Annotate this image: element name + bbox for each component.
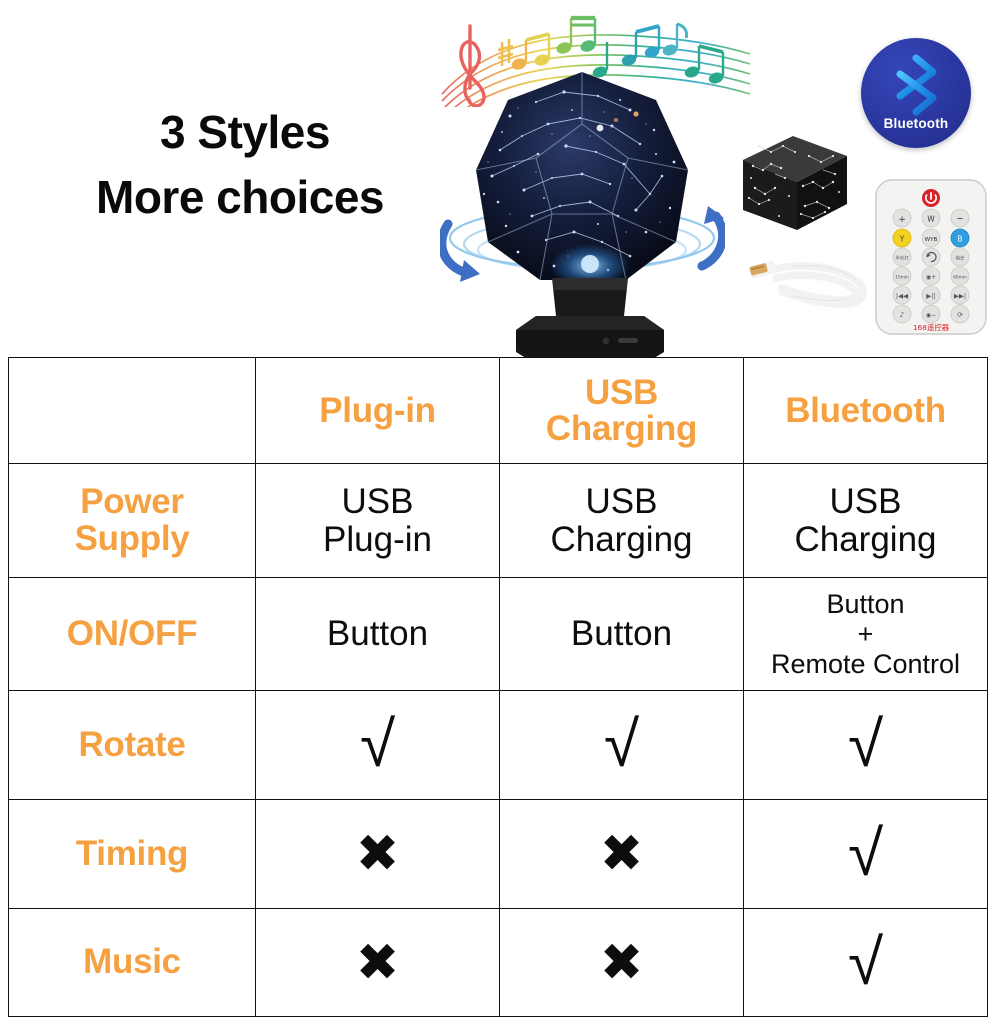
cell-line: Button <box>748 589 983 619</box>
check-icon: √ <box>260 713 495 777</box>
table-row-rotate: Rotate √ √ √ <box>9 691 988 800</box>
cell-line: USB <box>260 483 495 520</box>
remote-model-label: 168遥控器 <box>913 323 950 332</box>
column-header-line: Bluetooth <box>748 393 983 429</box>
svg-text:B: B <box>957 235 962 244</box>
row-label-timing: Timing <box>9 800 256 909</box>
check-icon: √ <box>748 822 983 886</box>
svg-text:▶▶|: ▶▶| <box>954 292 966 300</box>
row-label-rotate: Rotate <box>9 691 256 800</box>
cell-rotate-bluetooth: √ <box>744 691 988 800</box>
table-corner-cell <box>9 358 256 464</box>
cell-line: + <box>748 619 983 649</box>
svg-text:Y: Y <box>899 235 905 244</box>
column-header-plug-in: Plug-in <box>256 358 500 464</box>
row-label-line: ON/OFF <box>13 616 251 652</box>
svg-text:WYB: WYB <box>925 237 938 243</box>
check-icon: √ <box>748 713 983 777</box>
cell-line: Remote Control <box>748 649 983 679</box>
hero-banner: 3 Styles More choices <box>0 0 1000 357</box>
column-header-line: Charging <box>504 411 739 447</box>
cell-timing-bluetooth: √ <box>744 800 988 909</box>
row-label-line: Music <box>13 944 251 980</box>
remote-control-icon: + W − Y WYB B 半光灯 暗光 10min ◉+ 60min |◀◀ … <box>872 178 990 336</box>
cell-line: Button <box>260 615 495 652</box>
svg-text:W: W <box>927 215 935 224</box>
table-row-timing: Timing ✖ ✖ √ <box>9 800 988 909</box>
cell-power-bluetooth: USB Charging <box>744 464 988 578</box>
table-row-power-supply: Power Supply USB Plug-in USB Charging US… <box>9 464 988 578</box>
cell-power-usb-charging: USB Charging <box>500 464 744 578</box>
row-label-line: Power <box>13 484 251 520</box>
svg-text:⟳: ⟳ <box>957 311 963 319</box>
column-header-line: USB <box>504 375 739 411</box>
cell-music-plug-in: ✖ <box>256 909 500 1017</box>
svg-text:▶||: ▶|| <box>926 292 935 300</box>
headline-line-1: 3 Styles <box>40 100 440 165</box>
constellation-gift-box-icon <box>735 126 855 236</box>
svg-text:|◀◀: |◀◀ <box>896 292 908 300</box>
cell-line: Charging <box>748 521 983 558</box>
check-icon: √ <box>504 713 739 777</box>
svg-text:◉+: ◉+ <box>926 274 936 281</box>
table-row-music: Music ✖ ✖ √ <box>9 909 988 1017</box>
cell-line: Plug-in <box>260 521 495 558</box>
row-label-music: Music <box>9 909 256 1017</box>
cell-power-plug-in: USB Plug-in <box>256 464 500 578</box>
cell-timing-usb-charging: ✖ <box>500 800 744 909</box>
cell-timing-plug-in: ✖ <box>256 800 500 909</box>
column-header-line: Plug-in <box>260 393 495 429</box>
star-projector-lamp-icon <box>440 66 725 358</box>
comparison-table: Plug-in USB Charging Bluetooth Power Sup… <box>8 357 988 1017</box>
cross-icon: ✖ <box>504 828 739 880</box>
row-label-on-off: ON/OFF <box>9 578 256 691</box>
headline-line-2: More choices <box>40 165 440 230</box>
cell-line: USB <box>748 483 983 520</box>
table-header-row: Plug-in USB Charging Bluetooth <box>9 358 988 464</box>
bluetooth-badge-label: Bluetooth <box>861 116 971 131</box>
row-label-line: Supply <box>13 521 251 557</box>
cell-line: USB <box>504 483 739 520</box>
svg-text:10min: 10min <box>895 275 909 281</box>
table-row-on-off: ON/OFF Button Button Button + Remote Con… <box>9 578 988 691</box>
column-header-usb-charging: USB Charging <box>500 358 744 464</box>
svg-text:♪: ♪ <box>900 311 904 319</box>
cell-music-bluetooth: √ <box>744 909 988 1017</box>
row-label-line: Rotate <box>13 727 251 763</box>
cell-rotate-plug-in: √ <box>256 691 500 800</box>
row-label-line: Timing <box>13 836 251 872</box>
cell-line: Charging <box>504 521 739 558</box>
cell-onoff-bluetooth: Button + Remote Control <box>744 578 988 691</box>
page-title: 3 Styles More choices <box>40 100 440 231</box>
svg-text:+: + <box>898 215 906 225</box>
svg-text:60min: 60min <box>953 275 967 281</box>
cell-line: Button <box>504 615 739 652</box>
column-header-bluetooth: Bluetooth <box>744 358 988 464</box>
cell-rotate-usb-charging: √ <box>500 691 744 800</box>
cross-icon: ✖ <box>260 937 495 989</box>
svg-text:半光灯: 半光灯 <box>895 255 909 262</box>
cell-onoff-usb-charging: Button <box>500 578 744 691</box>
cell-onoff-plug-in: Button <box>256 578 500 691</box>
svg-text:◉−: ◉− <box>926 312 936 319</box>
svg-text:暗光: 暗光 <box>956 255 965 262</box>
cross-icon: ✖ <box>504 937 739 989</box>
cell-music-usb-charging: ✖ <box>500 909 744 1017</box>
check-icon: √ <box>748 931 983 995</box>
svg-text:−: − <box>956 215 964 225</box>
usb-cable-icon <box>742 248 877 320</box>
bluetooth-badge: Bluetooth <box>861 38 971 148</box>
cross-icon: ✖ <box>260 828 495 880</box>
bluetooth-icon <box>888 54 944 116</box>
row-label-power-supply: Power Supply <box>9 464 256 578</box>
